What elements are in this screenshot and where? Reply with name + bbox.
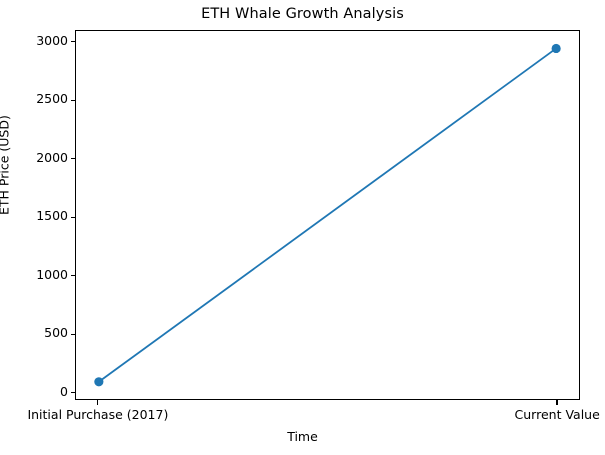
y-tick-mark [71,41,76,42]
y-tick-label: 3000 [0,33,68,48]
y-tick-label: 0 [0,384,68,399]
y-tick-mark [71,217,76,218]
y-tick-mark [71,275,76,276]
y-axis-label: ETH Price (USD) [0,115,12,215]
data-point [552,44,561,53]
x-tick-label: Current Value [515,407,600,422]
y-tick-mark [71,100,76,101]
y-tick-mark [71,392,76,393]
plot-surface [76,31,579,399]
x-axis-label: Time [0,429,605,444]
x-tick-mark [556,400,557,405]
series-line-eth-price [99,48,556,381]
data-point [94,377,103,386]
x-tick-mark [97,400,98,405]
y-tick-mark [71,158,76,159]
y-tick-label: 1000 [0,267,68,282]
chart-title: ETH Whale Growth Analysis [0,6,605,22]
chart-figure: ETH Whale Growth Analysis 05001000150020… [0,0,605,455]
y-tick-mark [71,334,76,335]
y-tick-label: 500 [0,325,68,340]
plot-axes [75,30,580,400]
x-tick-label: Initial Purchase (2017) [27,407,168,422]
y-tick-label: 2500 [0,91,68,106]
